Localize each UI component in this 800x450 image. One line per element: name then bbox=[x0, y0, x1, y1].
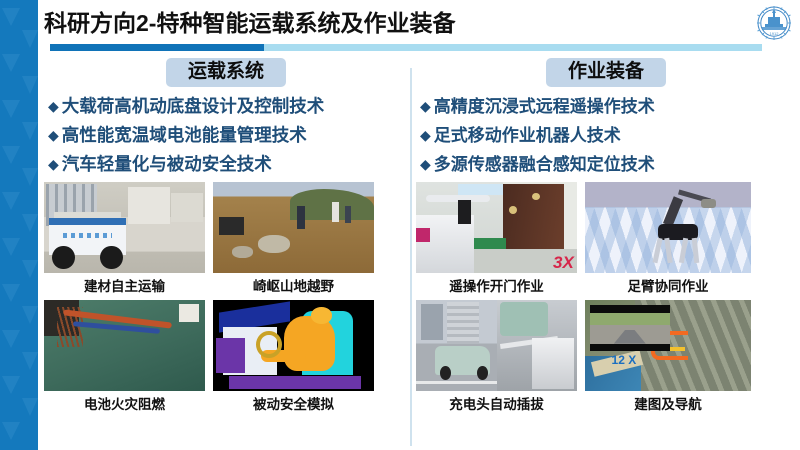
photo-cell: 电池火灾阻燃 bbox=[44, 300, 205, 413]
bullet-label: 大载荷高机动底盘设计及控制技术 bbox=[62, 94, 325, 119]
column-heading-operation: 作业装备 bbox=[416, 58, 796, 88]
left-decorative-band bbox=[0, 0, 38, 450]
photo-caption: 崎岖山地越野 bbox=[213, 273, 374, 295]
band-edge-divider bbox=[38, 0, 41, 450]
photo-caption: 建图及导航 bbox=[585, 391, 751, 413]
photo-caption: 建材自主运输 bbox=[44, 273, 205, 295]
bullet-label: 高精度沉浸式远程遥操作技术 bbox=[434, 94, 655, 119]
column-heading-transport-label: 运载系统 bbox=[166, 58, 286, 87]
photo-cell: 建材自主运输 bbox=[44, 182, 205, 295]
rule-segment-light bbox=[264, 44, 762, 51]
diamond-bullet-icon: ◆ bbox=[420, 152, 431, 177]
bullet-item: ◆ 高性能宽温域电池能量管理技术 bbox=[48, 123, 408, 148]
mapping-and-navigation-photo[interactable]: 12 X bbox=[585, 300, 751, 391]
playback-speed-overlay: 3X bbox=[553, 253, 574, 273]
bullet-list-transport: ◆ 大载荷高机动底盘设计及控制技术 ◆ 高性能宽温域电池能量管理技术 ◆ 汽车轻… bbox=[44, 94, 408, 177]
bullet-item: ◆ 高精度沉浸式远程遥操作技术 bbox=[420, 94, 796, 119]
column-heading-operation-label: 作业装备 bbox=[546, 58, 666, 87]
column-divider bbox=[410, 68, 412, 446]
photo-grid-transport: 建材自主运输 崎岖山地越野 电池火灾阻燃 被动安全模拟 bbox=[44, 182, 408, 413]
diamond-bullet-icon: ◆ bbox=[48, 123, 59, 148]
battery-fire-retardancy-test-photo[interactable] bbox=[44, 300, 205, 391]
bullet-item: ◆ 大载荷高机动底盘设计及控制技术 bbox=[48, 94, 408, 119]
bullet-item: ◆ 多源传感器融合感知定位技术 bbox=[420, 152, 796, 177]
bullet-item: ◆ 汽车轻量化与被动安全技术 bbox=[48, 152, 408, 177]
teleoperated-door-opening-photo[interactable]: 3X bbox=[416, 182, 577, 273]
photo-cell: 崎岖山地越野 bbox=[213, 182, 374, 295]
column-transport-system: 运载系统 ◆ 大载荷高机动底盘设计及控制技术 ◆ 高性能宽温域电池能量管理技术 … bbox=[44, 58, 408, 413]
photo-cell: 3X 遥操作开门作业 bbox=[416, 182, 577, 295]
legged-arm-coordination-robot-photo[interactable] bbox=[585, 182, 751, 273]
diamond-bullet-icon: ◆ bbox=[420, 123, 431, 148]
photo-grid-operation: 3X 遥操作开门作业 足臂协同作业 充电头自动插拔 bbox=[416, 182, 796, 413]
photo-caption: 被动安全模拟 bbox=[213, 391, 374, 413]
diamond-bullet-icon: ◆ bbox=[420, 94, 431, 119]
column-operation-equipment: 作业装备 ◆ 高精度沉浸式远程遥操作技术 ◆ 足式移动作业机器人技术 ◆ 多源传… bbox=[416, 58, 796, 413]
rough-mountain-offroad-test-photo[interactable] bbox=[213, 182, 374, 273]
photo-cell: 充电头自动插拔 bbox=[416, 300, 577, 413]
diamond-bullet-icon: ◆ bbox=[48, 94, 59, 119]
playback-speed-overlay: 12 X bbox=[612, 353, 637, 367]
photo-cell: 12 X 建图及导航 bbox=[585, 300, 751, 413]
bullet-list-operation: ◆ 高精度沉浸式远程遥操作技术 ◆ 足式移动作业机器人技术 ◆ 多源传感器融合感… bbox=[416, 94, 796, 177]
diamond-bullet-icon: ◆ bbox=[48, 152, 59, 177]
photo-caption: 充电头自动插拔 bbox=[416, 391, 577, 413]
automatic-charging-connector-photo[interactable] bbox=[416, 300, 577, 391]
svg-text:1912: 1912 bbox=[770, 31, 780, 36]
bullet-label: 多源传感器融合感知定位技术 bbox=[434, 152, 655, 177]
photo-caption: 足臂协同作业 bbox=[585, 273, 751, 295]
bullet-label: 汽车轻量化与被动安全技术 bbox=[62, 152, 272, 177]
passive-safety-crash-simulation-photo[interactable] bbox=[213, 300, 374, 391]
photo-cell: 足臂协同作业 bbox=[585, 182, 751, 295]
photo-caption: 遥操作开门作业 bbox=[416, 273, 577, 295]
bullet-label: 高性能宽温域电池能量管理技术 bbox=[62, 123, 307, 148]
rule-segment-dark bbox=[50, 44, 264, 51]
title-underline-rule bbox=[50, 44, 762, 51]
bullet-label: 足式移动作业机器人技术 bbox=[434, 123, 621, 148]
photo-caption: 电池火灾阻燃 bbox=[44, 391, 205, 413]
autonomous-material-transport-vehicle-photo[interactable] bbox=[44, 182, 205, 273]
photo-cell: 被动安全模拟 bbox=[213, 300, 374, 413]
university-seal-icon: 1912 bbox=[752, 2, 796, 48]
column-heading-transport: 运载系统 bbox=[44, 58, 408, 88]
page-title: 科研方向2-特种智能运载系统及作业装备 bbox=[44, 6, 744, 40]
bullet-item: ◆ 足式移动作业机器人技术 bbox=[420, 123, 796, 148]
